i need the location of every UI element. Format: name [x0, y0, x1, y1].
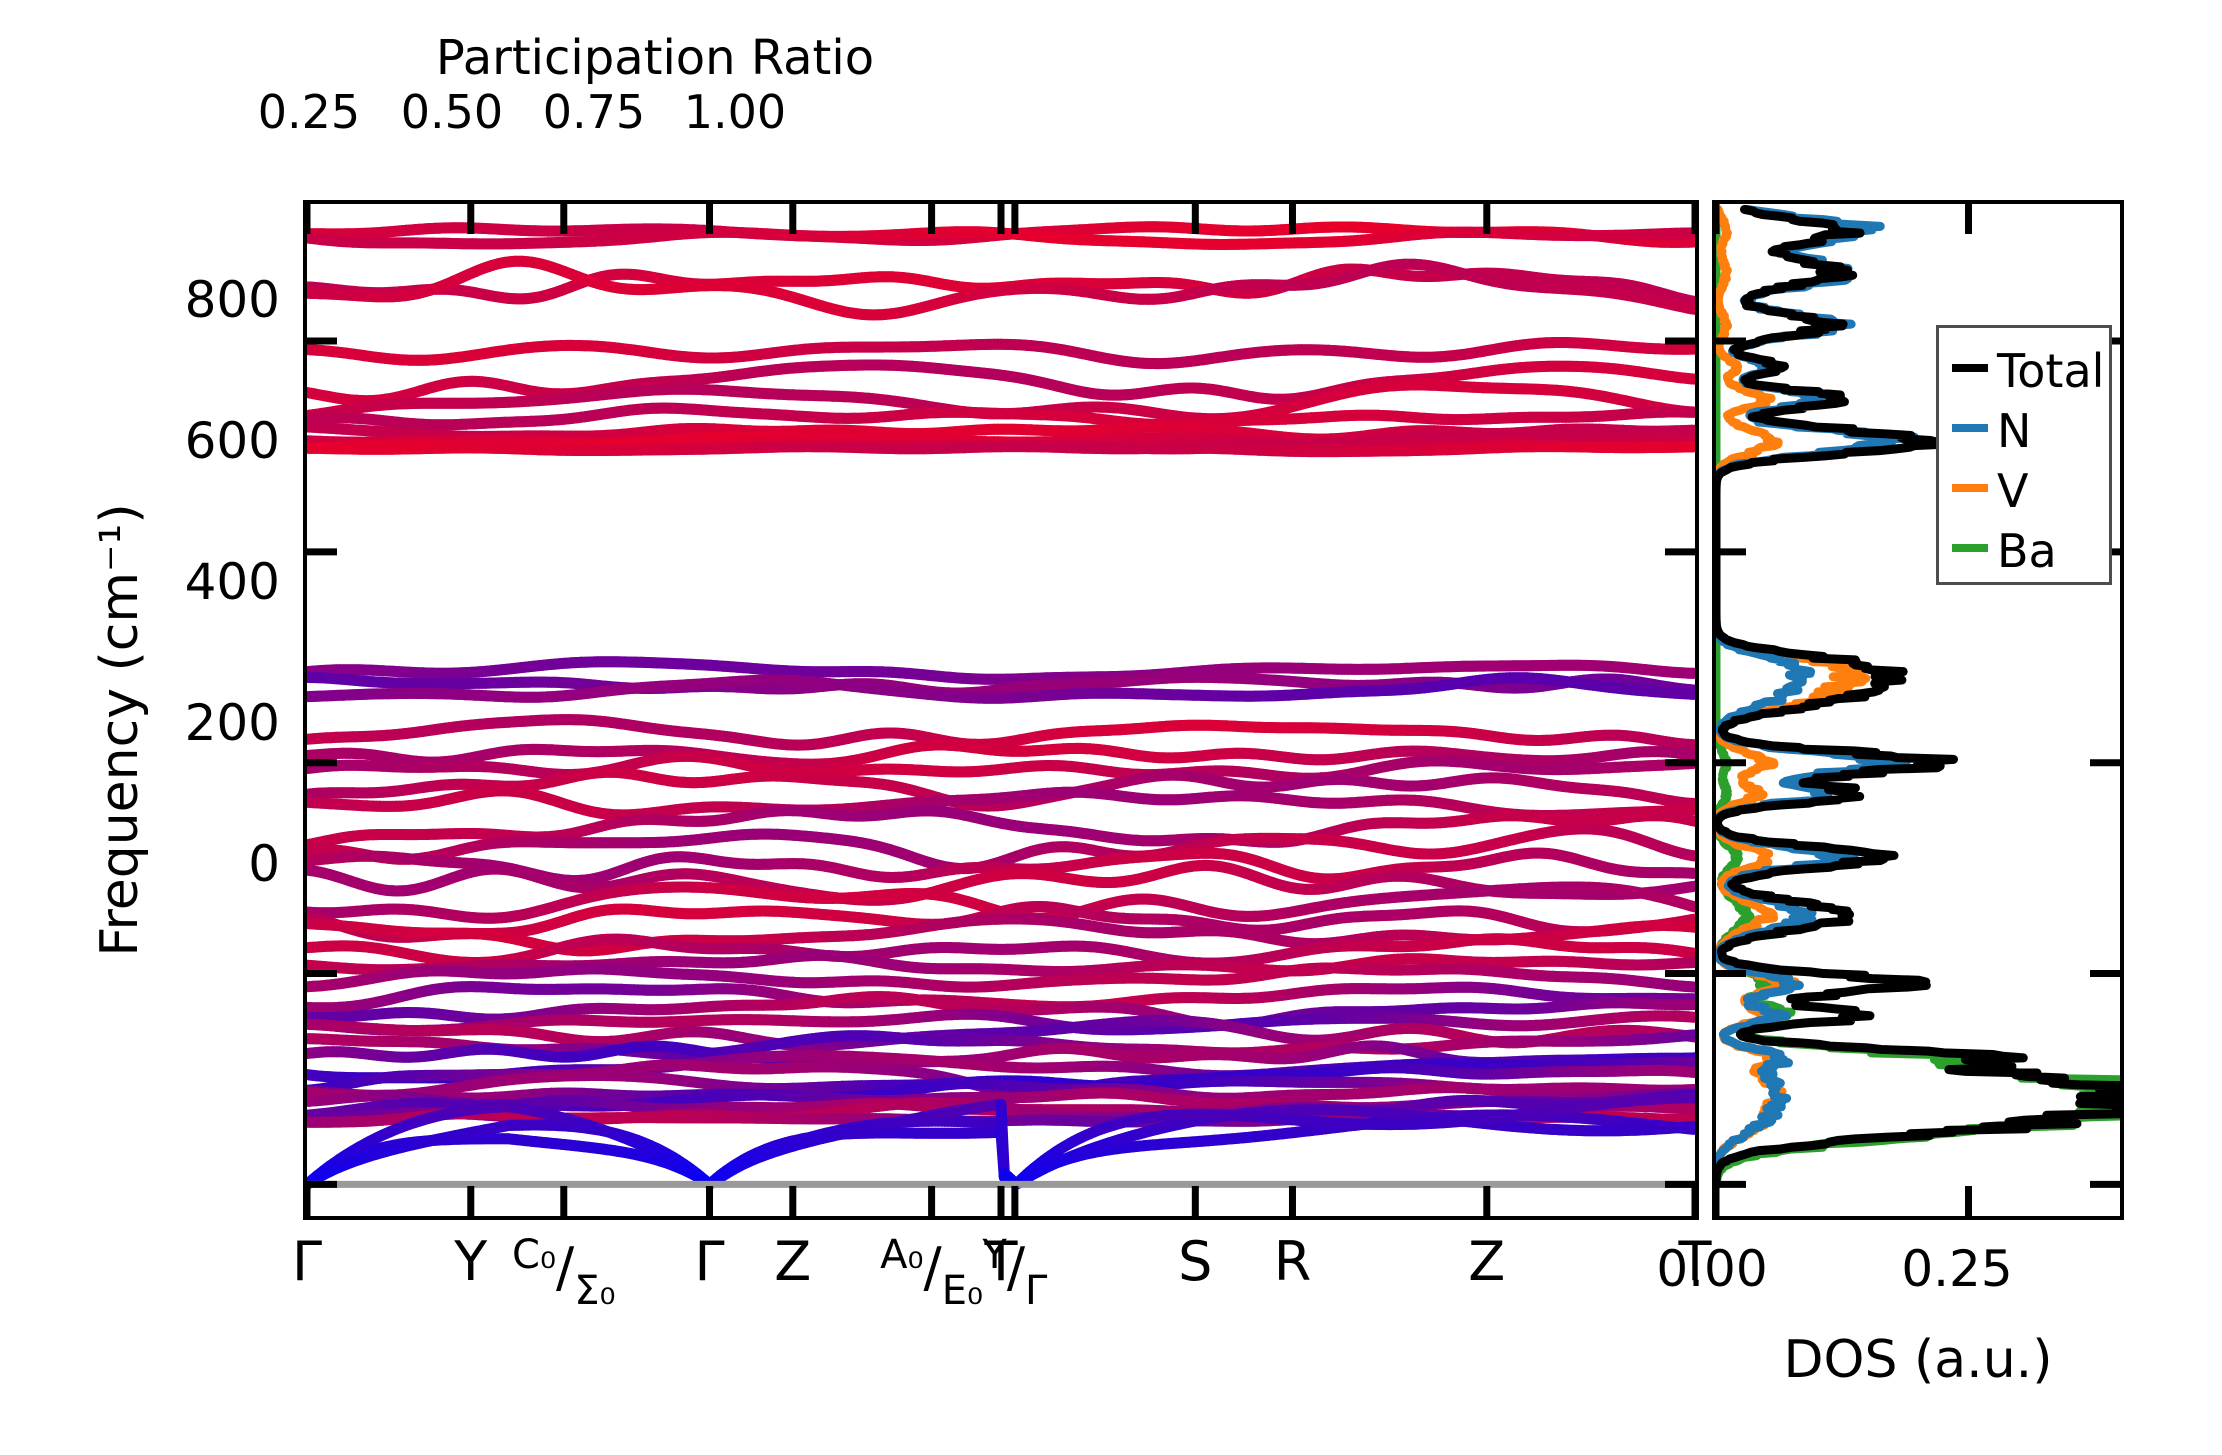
y-ticklabel-200: 200 [120, 694, 280, 752]
colorbar-ticklabel-0: 0.25 [249, 85, 369, 139]
colorbar-ticklabel-3: 1.00 [675, 85, 795, 139]
legend-label-v: V [1997, 464, 2028, 518]
dos-axis-label: DOS (a.u.) [1712, 1330, 2124, 1390]
dos-xticklabel-1: 0.25 [1877, 1240, 2037, 1298]
dos-legend[interactable]: Total N V Ba [1936, 325, 2112, 585]
legend-label-ba: Ba [1997, 524, 2057, 578]
band-x-ticklabel-10: Z [1377, 1235, 1597, 1289]
figure-canvas: Participation Ratio 0.25 0.50 0.75 1.00 … [0, 0, 2222, 1455]
band-structure-panel[interactable] [303, 200, 1699, 1220]
y-ticklabel-0: 0 [120, 835, 280, 893]
y-ticklabel-600: 600 [120, 412, 280, 470]
colorbar-ticklabel-2: 0.75 [534, 85, 654, 139]
y-ticklabel-800: 800 [120, 271, 280, 329]
colorbar-title: Participation Ratio [305, 30, 1005, 86]
dos-xticklabel-0: 0.00 [1632, 1240, 1792, 1298]
colorbar-ticklabel-1: 0.50 [392, 85, 512, 139]
y-ticklabel-400: 400 [120, 553, 280, 611]
legend-label-n: N [1997, 404, 2031, 458]
band-x-ticklabel-9: R [1182, 1235, 1402, 1289]
legend-label-total: Total [1997, 344, 2104, 398]
